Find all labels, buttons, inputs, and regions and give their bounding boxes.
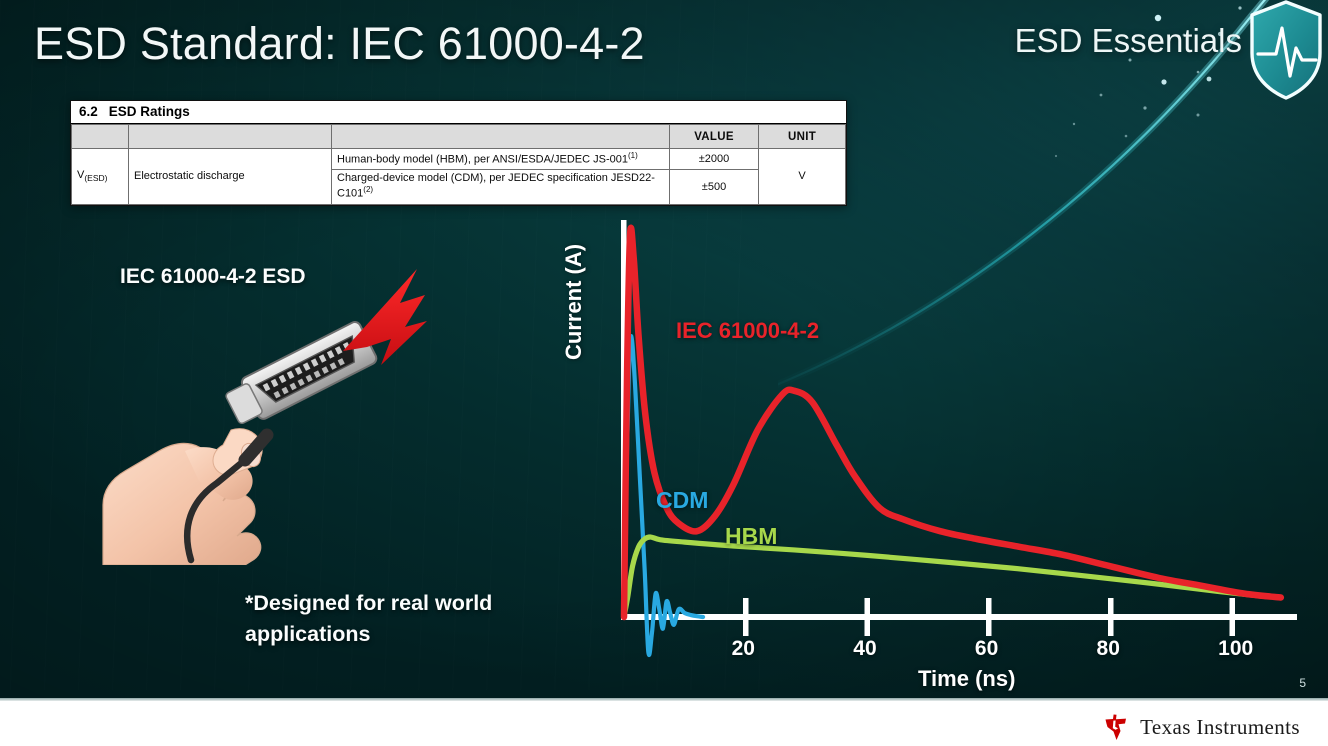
texas-instruments-logo: Texas Instruments [1101,712,1300,742]
series-label-cdm: CDM [656,487,708,514]
cell-value-hbm: ±2000 [670,149,759,170]
designed-note: *Designed for real world applications [245,588,575,650]
section-title: ESD Ratings [109,104,190,119]
cell-symbol: V(ESD) [72,149,129,205]
table-row: V(ESD) Electrostatic discharge Human-bod… [72,149,846,170]
header-value: VALUE [670,125,759,149]
hdmi-connector-icon [222,320,378,430]
x-tick-label: 60 [975,637,998,661]
esd-ratings-table: 6.2ESD Ratings VALUE UNIT V(ESD) Electro… [70,100,847,206]
header-blank-description [332,125,670,149]
ti-texas-icon [1101,712,1131,742]
description-text-cdm: Charged-device model (CDM), per JEDEC sp… [337,172,655,200]
chart-series-layer [624,228,1281,655]
footnote-marker-cdm: (2) [363,185,373,194]
x-tick-label: 40 [853,637,876,661]
hand-with-connector-illustration [95,255,435,565]
table-section-heading: 6.2ESD Ratings [71,101,846,124]
section-number: 6.2 [79,104,98,119]
header-unit: UNIT [759,125,846,149]
cell-value-cdm: ±500 [670,170,759,204]
chart-series-iec-61000-4-2 [624,228,1281,617]
series-label-iec: IEC 61000-4-2 [676,318,819,344]
ti-company-name: Texas Instruments [1140,715,1300,740]
chart-series-hbm [624,537,1281,617]
cell-description-hbm: Human-body model (HBM), per ANSI/ESDA/JE… [332,149,670,170]
table-header-row: VALUE UNIT [72,125,846,149]
page-number: 5 [1299,676,1306,690]
series-brand-label: ESD Essentials [1015,22,1242,60]
header-blank-parameter [129,125,332,149]
hand-icon [103,429,264,565]
description-text-hbm: Human-body model (HBM), per ANSI/ESDA/JE… [337,154,628,166]
footnote-marker-hbm: (1) [628,151,638,160]
shield-pulse-icon [1246,0,1326,102]
series-label-hbm: HBM [725,523,777,550]
slide-canvas: ESD Standard: IEC 61000-4-2 ESD Essentia… [0,0,1328,746]
x-tick-label: 20 [732,637,755,661]
header-blank-symbol [72,125,129,149]
x-tick-label: 80 [1097,637,1120,661]
symbol-subscript: (ESD) [84,173,107,183]
chart-axes [621,220,1297,620]
esd-waveform-chart [565,200,1305,700]
cell-description-cdm: Charged-device model (CDM), per JEDEC sp… [332,170,670,204]
cell-parameter: Electrostatic discharge [129,149,332,205]
x-tick-label: 100 [1218,637,1253,661]
slide-title: ESD Standard: IEC 61000-4-2 [34,18,645,70]
cell-unit: V [759,149,846,205]
